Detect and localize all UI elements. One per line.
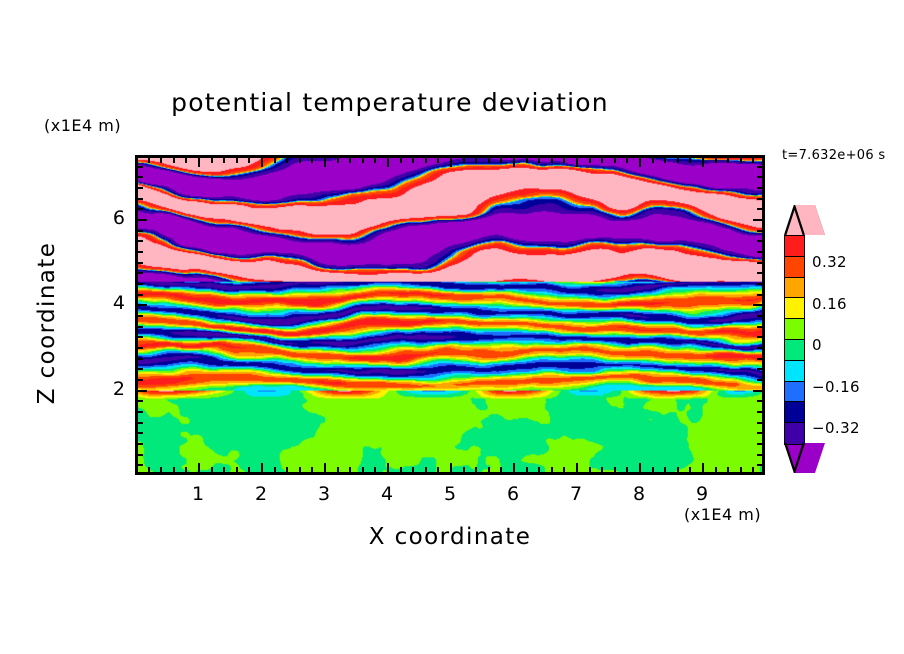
x-minor-tick-top [400,157,402,163]
x-minor-tick-top [274,157,276,163]
x-minor-tick [551,467,553,473]
z-minor-tick-right [757,294,763,296]
x-minor-tick [148,467,150,473]
x-minor-tick [475,467,477,473]
x-minor-tick-top [500,157,502,163]
x-minor-tick-top [173,157,175,163]
z-minor-tick-right [757,422,763,424]
z-minor-tick-right [757,411,763,413]
z-major-tick [137,390,147,392]
z-minor-tick-right [757,358,763,360]
x-minor-tick [664,467,666,473]
x-minor-tick-top [299,157,301,163]
x-minor-tick [248,467,250,473]
x-major-tick [702,463,704,473]
z-major-tick-right [753,304,763,306]
z-minor-tick-right [757,326,763,328]
x-minor-tick-top [463,157,465,163]
x-major-tick-top [198,157,200,167]
z-axis-unit-label: (x1E4 m) [44,116,121,135]
x-minor-tick [349,467,351,473]
x-major-tick [576,463,578,473]
x-minor-tick-top [349,157,351,163]
colorbar-band-navy [784,401,805,423]
x-minor-tick-top [337,157,339,163]
z-major-tick [137,304,147,306]
colorbar [784,205,805,473]
x-minor-tick [677,467,679,473]
colorbar-tick-label: 0.16 [812,295,847,313]
z-minor-tick [137,422,143,424]
z-minor-tick [137,208,143,210]
z-minor-tick-right [757,240,763,242]
colorbar-band-orange-red [784,256,805,278]
x-minor-tick-top [752,157,754,163]
x-minor-tick [740,467,742,473]
x-minor-tick [689,467,691,473]
x-minor-tick [173,467,175,473]
z-minor-tick [137,166,143,168]
x-minor-tick-top [236,157,238,163]
colorbar-band-cyan [784,360,805,382]
x-minor-tick-top [563,157,565,163]
z-minor-tick [137,230,143,232]
z-tick-label: 2 [95,378,125,400]
z-minor-tick-right [757,230,763,232]
x-minor-tick [589,467,591,473]
x-minor-tick [374,467,376,473]
colorbar-max-arrow [784,205,825,235]
x-minor-tick [299,467,301,473]
x-minor-tick [752,467,754,473]
x-axis-unit-label: (x1E4 m) [684,505,761,524]
z-minor-tick [137,411,143,413]
x-minor-tick [437,467,439,473]
x-tick-label: 9 [687,483,717,505]
z-minor-tick-right [757,379,763,381]
z-minor-tick [137,368,143,370]
z-minor-tick [137,272,143,274]
z-minor-tick [137,326,143,328]
z-minor-tick-right [757,368,763,370]
z-minor-tick [137,379,143,381]
x-minor-tick-top [677,157,679,163]
page-title: potential temperature deviation [0,88,780,117]
x-minor-tick [652,467,654,473]
x-tick-label: 2 [246,483,276,505]
z-minor-tick-right [757,198,763,200]
x-major-tick-top [450,157,452,167]
z-axis-title: Z coordinate [34,223,60,423]
z-minor-tick [137,432,143,434]
x-tick-label: 7 [561,483,591,505]
x-minor-tick-top [601,157,603,163]
z-minor-tick [137,347,143,349]
x-minor-tick-top [311,157,313,163]
z-minor-tick-right [757,251,763,253]
contour-field [138,158,762,472]
x-minor-tick-top [185,157,187,163]
x-tick-label: 5 [435,483,465,505]
x-minor-tick [362,467,364,473]
x-minor-tick [488,467,490,473]
x-minor-tick [160,467,162,473]
x-minor-tick-top [526,157,528,163]
z-minor-tick [137,283,143,285]
x-minor-tick [400,467,402,473]
x-minor-tick [211,467,213,473]
colorbar-min-arrow [784,443,825,473]
x-minor-tick [626,467,628,473]
x-major-tick-top [513,157,515,167]
colorbar-tick-label: −0.16 [812,378,860,396]
x-major-tick-top [324,157,326,167]
z-minor-tick-right [757,272,763,274]
x-major-tick [198,463,200,473]
x-minor-tick-top [160,157,162,163]
x-minor-tick [223,467,225,473]
z-minor-tick-right [757,432,763,434]
z-minor-tick-right [757,208,763,210]
z-tick-label: 6 [95,207,125,229]
z-major-tick [137,219,147,221]
x-minor-tick [538,467,540,473]
x-minor-tick-top [626,157,628,163]
x-minor-tick-top [551,157,553,163]
x-major-tick-top [261,157,263,167]
colorbar-band-blue [784,381,805,403]
x-major-tick [513,463,515,473]
x-major-tick [387,463,389,473]
z-minor-tick-right [757,443,763,445]
z-minor-tick [137,443,143,445]
x-tick-label: 8 [624,483,654,505]
x-minor-tick-top [286,157,288,163]
z-minor-tick [137,454,143,456]
z-minor-tick [137,240,143,242]
z-minor-tick-right [757,262,763,264]
x-minor-tick-top [538,157,540,163]
x-minor-tick-top [425,157,427,163]
x-minor-tick [526,467,528,473]
x-minor-tick [286,467,288,473]
z-minor-tick [137,251,143,253]
z-minor-tick [137,358,143,360]
x-minor-tick [236,467,238,473]
colorbar-band-yellow [784,297,805,319]
x-minor-tick-top [412,157,414,163]
z-minor-tick [137,400,143,402]
z-minor-tick [137,187,143,189]
x-minor-tick [337,467,339,473]
z-minor-tick-right [757,464,763,466]
z-minor-tick-right [757,336,763,338]
x-minor-tick-top [437,157,439,163]
x-minor-tick-top [475,157,477,163]
x-minor-tick-top [488,157,490,163]
colorbar-tick-label: 0.32 [812,253,847,271]
x-major-tick [324,463,326,473]
x-major-tick-top [387,157,389,167]
z-minor-tick [137,336,143,338]
x-minor-tick [463,467,465,473]
x-major-tick-top [702,157,704,167]
x-minor-tick-top [148,157,150,163]
x-minor-tick-top [727,157,729,163]
z-minor-tick-right [757,187,763,189]
x-minor-tick-top [362,157,364,163]
x-minor-tick-top [715,157,717,163]
z-tick-label: 4 [95,292,125,314]
x-minor-tick [715,467,717,473]
x-tick-label: 6 [498,483,528,505]
z-minor-tick [137,198,143,200]
x-minor-tick-top [614,157,616,163]
colorbar-band-yellow-green [784,318,805,340]
x-minor-tick [601,467,603,473]
z-major-tick-right [753,390,763,392]
timestamp-annotation: t=7.632e+06 s [782,148,885,163]
x-minor-tick [412,467,414,473]
x-major-tick [639,463,641,473]
x-major-tick-top [639,157,641,167]
z-minor-tick-right [757,166,763,168]
z-minor-tick [137,315,143,317]
colorbar-tick-label: −0.32 [812,419,860,437]
x-minor-tick-top [652,157,654,163]
z-minor-tick-right [757,347,763,349]
x-minor-tick-top [248,157,250,163]
x-minor-tick [311,467,313,473]
z-minor-tick [137,464,143,466]
z-minor-tick-right [757,315,763,317]
colorbar-band-orange [784,277,805,299]
x-minor-tick-top [223,157,225,163]
x-minor-tick-top [211,157,213,163]
x-minor-tick [185,467,187,473]
x-minor-tick-top [664,157,666,163]
x-minor-tick-top [589,157,591,163]
x-minor-tick-top [374,157,376,163]
z-minor-tick-right [757,454,763,456]
x-minor-tick [563,467,565,473]
contour-plot-area [135,155,765,475]
z-minor-tick-right [757,400,763,402]
z-minor-tick [137,262,143,264]
x-tick-label: 4 [372,483,402,505]
colorbar-band-indigo [784,422,805,444]
x-minor-tick [425,467,427,473]
x-major-tick-top [576,157,578,167]
x-major-tick [261,463,263,473]
z-minor-tick [137,294,143,296]
contour-figure: potential temperature deviation (x1E4 m)… [0,0,904,654]
z-minor-tick-right [757,283,763,285]
x-major-tick [450,463,452,473]
x-minor-tick [274,467,276,473]
z-major-tick-right [753,219,763,221]
x-tick-label: 1 [183,483,213,505]
z-minor-tick [137,176,143,178]
z-minor-tick-right [757,176,763,178]
x-minor-tick-top [689,157,691,163]
colorbar-tick-label: 0 [812,336,822,354]
x-minor-tick [614,467,616,473]
x-axis-title: X coordinate [0,524,900,550]
x-minor-tick [500,467,502,473]
x-minor-tick-top [740,157,742,163]
x-tick-label: 3 [309,483,339,505]
colorbar-band-red [784,235,805,257]
colorbar-band-spring-green [784,339,805,361]
x-minor-tick [727,467,729,473]
